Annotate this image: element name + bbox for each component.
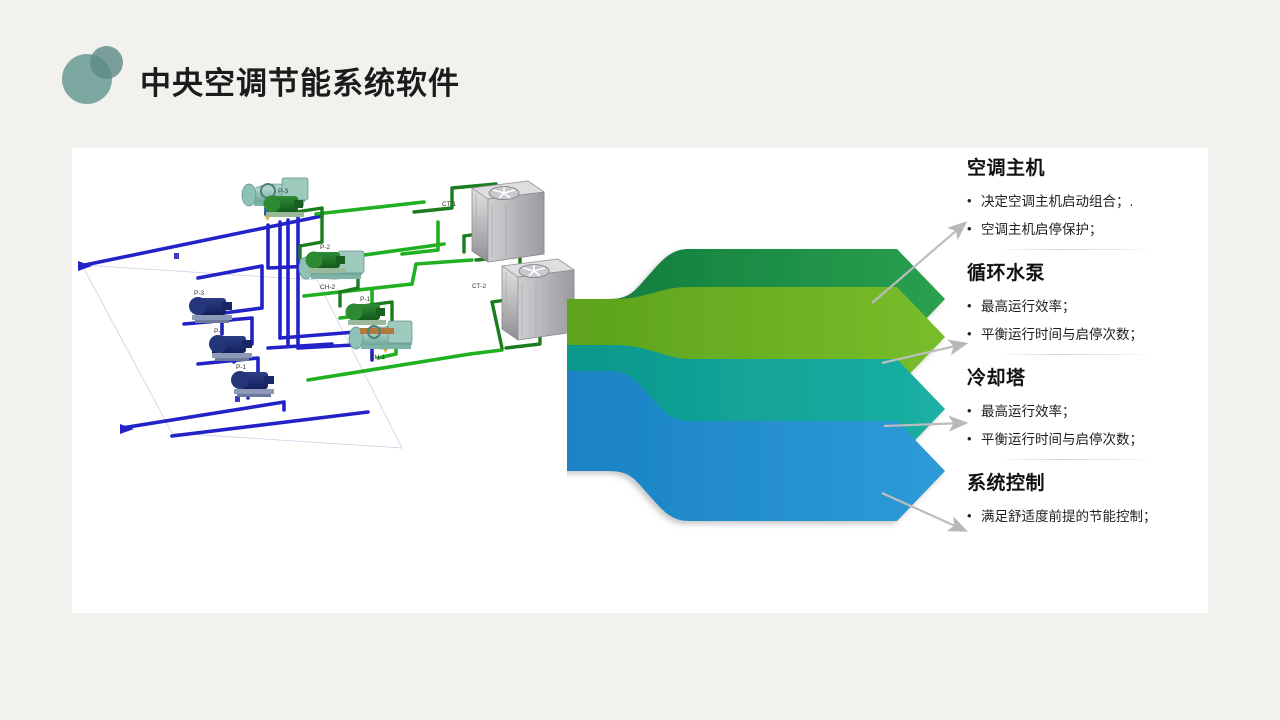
section-divider: [995, 249, 1155, 250]
feature-heading-pump: 循环水泵: [967, 263, 1207, 286]
content-card: CH-3 CH-2: [72, 148, 1208, 613]
feature-block-pump: 循环水泵 • 最高运行效率； • 平衡运行时间与启停次数；: [967, 263, 1207, 355]
list-item: • 平衡运行时间与启停次数；: [967, 430, 1207, 450]
bullet-icon: •: [967, 297, 981, 316]
feature-panel: 空调主机 • 决定空调主机启动组合；. • 空调主机启停保护； 循环水泵 • 最…: [967, 158, 1207, 535]
svg-text:CH-2: CH-2: [320, 284, 336, 291]
feature-heading-chiller: 空调主机: [967, 158, 1207, 181]
feature-heading-system-control: 系统控制: [967, 473, 1207, 496]
bullet-icon: •: [967, 220, 981, 239]
svg-text:P-3: P-3: [194, 290, 205, 297]
bullet-text: 决定空调主机启动组合；.: [981, 192, 1207, 212]
svg-text:CT-1: CT-1: [442, 201, 456, 208]
bullet-icon: •: [967, 325, 981, 344]
svg-text:CH-1: CH-1: [370, 354, 386, 361]
svg-text:P-2: P-2: [214, 328, 225, 335]
feature-block-system-control: 系统控制 • 满足舒适度前提的节能控制；: [967, 473, 1207, 526]
brand-logo-icon: [62, 46, 124, 104]
bullet-text: 平衡运行时间与启停次数；: [981, 430, 1207, 450]
bullet-icon: •: [967, 402, 981, 421]
bullet-icon: •: [967, 430, 981, 449]
bullet-text: 满足舒适度前提的节能控制；: [981, 507, 1207, 527]
list-item: • 平衡运行时间与启停次数；: [967, 325, 1207, 345]
feature-heading-cooling-tower: 冷却塔: [967, 368, 1207, 391]
slide-header: 中央空调节能系统软件: [0, 0, 1280, 140]
feature-block-chiller: 空调主机 • 决定空调主机启动组合；. • 空调主机启停保护；: [967, 158, 1207, 250]
section-divider: [995, 459, 1155, 460]
svg-text:P-3: P-3: [278, 188, 289, 195]
bullet-icon: •: [967, 192, 981, 211]
svg-text:P-1: P-1: [236, 364, 247, 371]
fan-bands-graphic: [567, 243, 997, 533]
bullet-text: 平衡运行时间与启停次数；: [981, 325, 1207, 345]
list-item: • 决定空调主机启动组合；.: [967, 192, 1207, 212]
logo-circle-small: [90, 46, 123, 79]
slide-root: 中央空调节能系统软件: [0, 0, 1280, 720]
list-item: • 空调主机启停保护；: [967, 220, 1207, 240]
svg-text:P-1: P-1: [360, 296, 371, 303]
bullet-text: 最高运行效率；: [981, 297, 1207, 317]
feature-block-cooling-tower: 冷却塔 • 最高运行效率； • 平衡运行时间与启停次数；: [967, 368, 1207, 460]
svg-text:P-2: P-2: [320, 244, 331, 251]
list-item: • 最高运行效率；: [967, 402, 1207, 422]
hvac-schematic-image: CH-3 CH-2: [72, 148, 592, 613]
bullet-text: 空调主机启停保护；: [981, 220, 1207, 240]
svg-text:CT-2: CT-2: [472, 283, 486, 290]
bullet-icon: •: [967, 507, 981, 526]
list-item: • 最高运行效率；: [967, 297, 1207, 317]
page-title: 中央空调节能系统软件: [140, 58, 460, 103]
bullet-text: 最高运行效率；: [981, 402, 1207, 422]
section-divider: [995, 354, 1155, 355]
list-item: • 满足舒适度前提的节能控制；: [967, 507, 1207, 527]
